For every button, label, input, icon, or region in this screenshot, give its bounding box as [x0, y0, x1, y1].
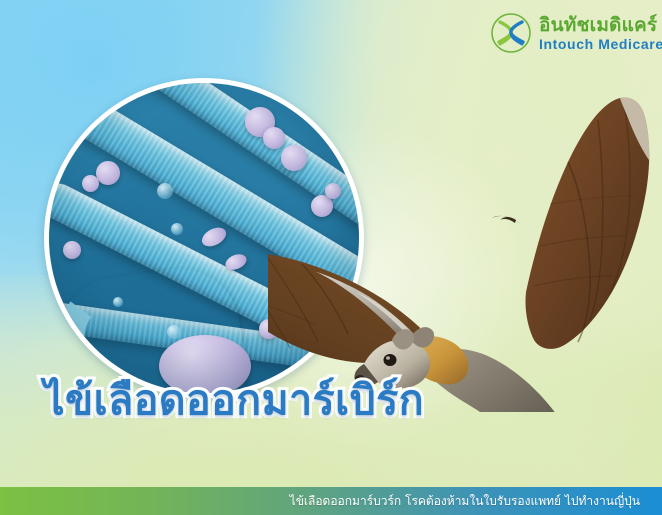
flying-bat-illustration	[268, 96, 662, 412]
poster-canvas: ไข้เลือดออกมาร์เบิร์ก อินทัชเมดิแคร์ Int…	[0, 0, 662, 515]
brand-logo[interactable]: อินทัชเมดิแคร์ Intouch Medicare	[490, 12, 662, 54]
bat-eye	[384, 354, 397, 366]
brand-name-english: Intouch Medicare	[539, 37, 662, 51]
bat-right-wing	[525, 98, 649, 349]
bottom-banner-text: ไข้เลือดออกมาร์บวร์ก โรคต้องห้ามในใบรับร…	[290, 492, 662, 511]
brand-name-thai: อินทัชเมดิแคร์	[539, 16, 662, 35]
intouch-medicare-emblem-icon	[490, 12, 532, 54]
brand-logo-text: อินทัชเมดิแคร์ Intouch Medicare	[539, 16, 662, 51]
page-title: ไข้เลือดออกมาร์เบิร์ก	[44, 378, 424, 422]
bottom-banner: ไข้เลือดออกมาร์บวร์ก โรคต้องห้ามในใบรับร…	[0, 487, 662, 515]
